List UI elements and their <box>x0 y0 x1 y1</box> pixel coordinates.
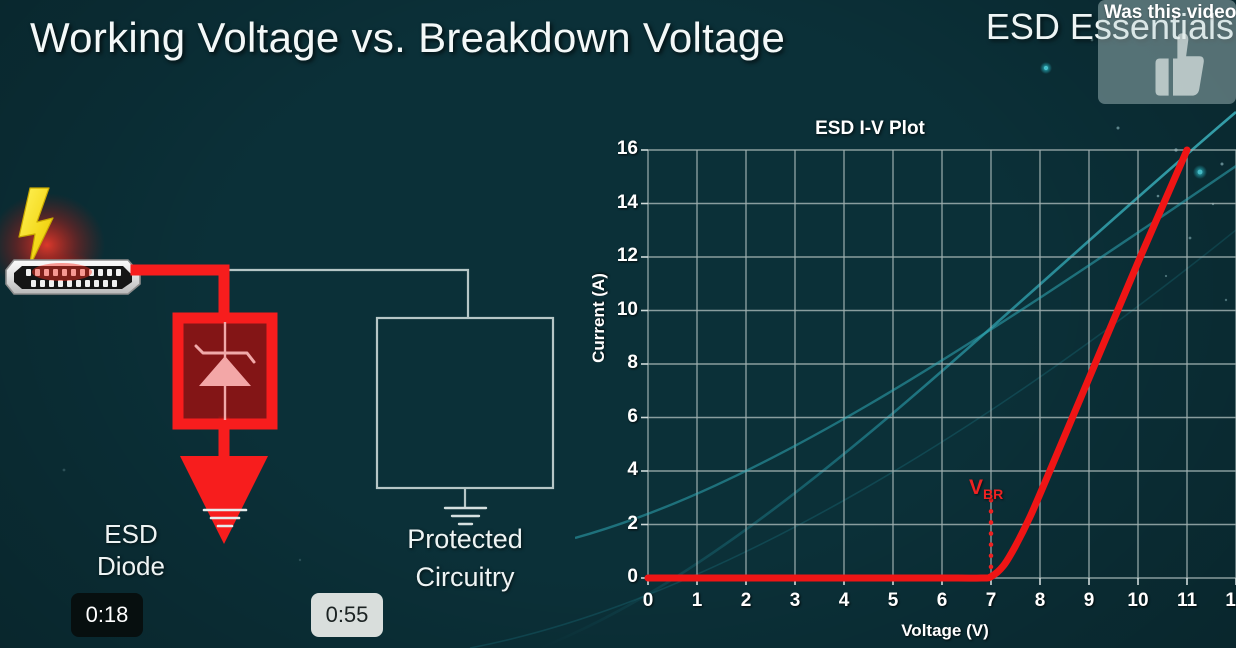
y-tick-label: 4 <box>582 459 638 481</box>
y-tick-label: 10 <box>582 299 638 321</box>
x-tick-label: 3 <box>777 590 813 612</box>
esd-diode-label-line1: ESD <box>88 518 174 550</box>
y-tick-label: 0 <box>582 566 638 588</box>
y-tick-label: 6 <box>582 406 638 428</box>
chart-gridlines <box>648 150 1236 578</box>
x-tick-label: 10 <box>1120 590 1156 612</box>
decorative-curve <box>575 166 1236 538</box>
x-tick-label: 8 <box>1022 590 1058 612</box>
esd-diode-label: ESD Diode <box>88 518 174 582</box>
x-tick-label: 12 <box>1218 590 1236 612</box>
breakdown-voltage-label: VBR <box>969 476 1003 502</box>
timestamp-total[interactable]: 0:55 <box>311 593 383 637</box>
protected-circuitry-box <box>377 318 553 508</box>
y-tick-label: 14 <box>582 192 638 214</box>
protected-circuitry-label: Protected Circuitry <box>380 520 550 596</box>
chart-plot-area <box>575 108 1236 648</box>
page-title: Working Voltage vs. Breakdown Voltage <box>30 14 785 62</box>
esd-diode-label-line2: Diode <box>88 550 174 582</box>
x-tick-label: 1 <box>679 590 715 612</box>
thumbs-up-icon[interactable] <box>1138 30 1208 100</box>
x-tick-label: 4 <box>826 590 862 612</box>
chart-tick-marks <box>641 150 1236 585</box>
x-tick-label: 2 <box>728 590 764 612</box>
x-tick-label: 5 <box>875 590 911 612</box>
esd-diode-symbol <box>178 318 272 424</box>
circuit-diagram: ESD Diode Protected Circuitry <box>0 170 590 550</box>
y-tick-label: 12 <box>582 245 638 267</box>
x-tick-label: 11 <box>1169 590 1205 612</box>
chart-x-axis-label: Voltage (V) <box>845 621 1045 641</box>
feedback-prompt: Was this video <box>1104 2 1236 24</box>
chart-title: ESD I-V Plot <box>575 118 1165 140</box>
y-tick-label: 2 <box>582 513 638 535</box>
protected-label-line2: Circuitry <box>380 558 550 596</box>
feedback-overlay[interactable]: Was this video <box>1098 0 1236 104</box>
signal-trace <box>140 270 468 318</box>
ground-icon-esd <box>204 510 246 526</box>
y-tick-label: 8 <box>582 352 638 374</box>
protected-label-line1: Protected <box>380 520 550 558</box>
hdmi-connector <box>6 260 140 294</box>
x-tick-label: 6 <box>924 590 960 612</box>
timestamp-current[interactable]: 0:18 <box>71 593 143 637</box>
y-tick-label: 16 <box>582 138 638 160</box>
x-tick-label: 0 <box>630 590 666 612</box>
x-tick-label: 9 <box>1071 590 1107 612</box>
x-tick-label: 7 <box>973 590 1009 612</box>
esd-iv-chart: ESD I-V Plot Current (A) Voltage (V) 024… <box>575 108 1236 648</box>
